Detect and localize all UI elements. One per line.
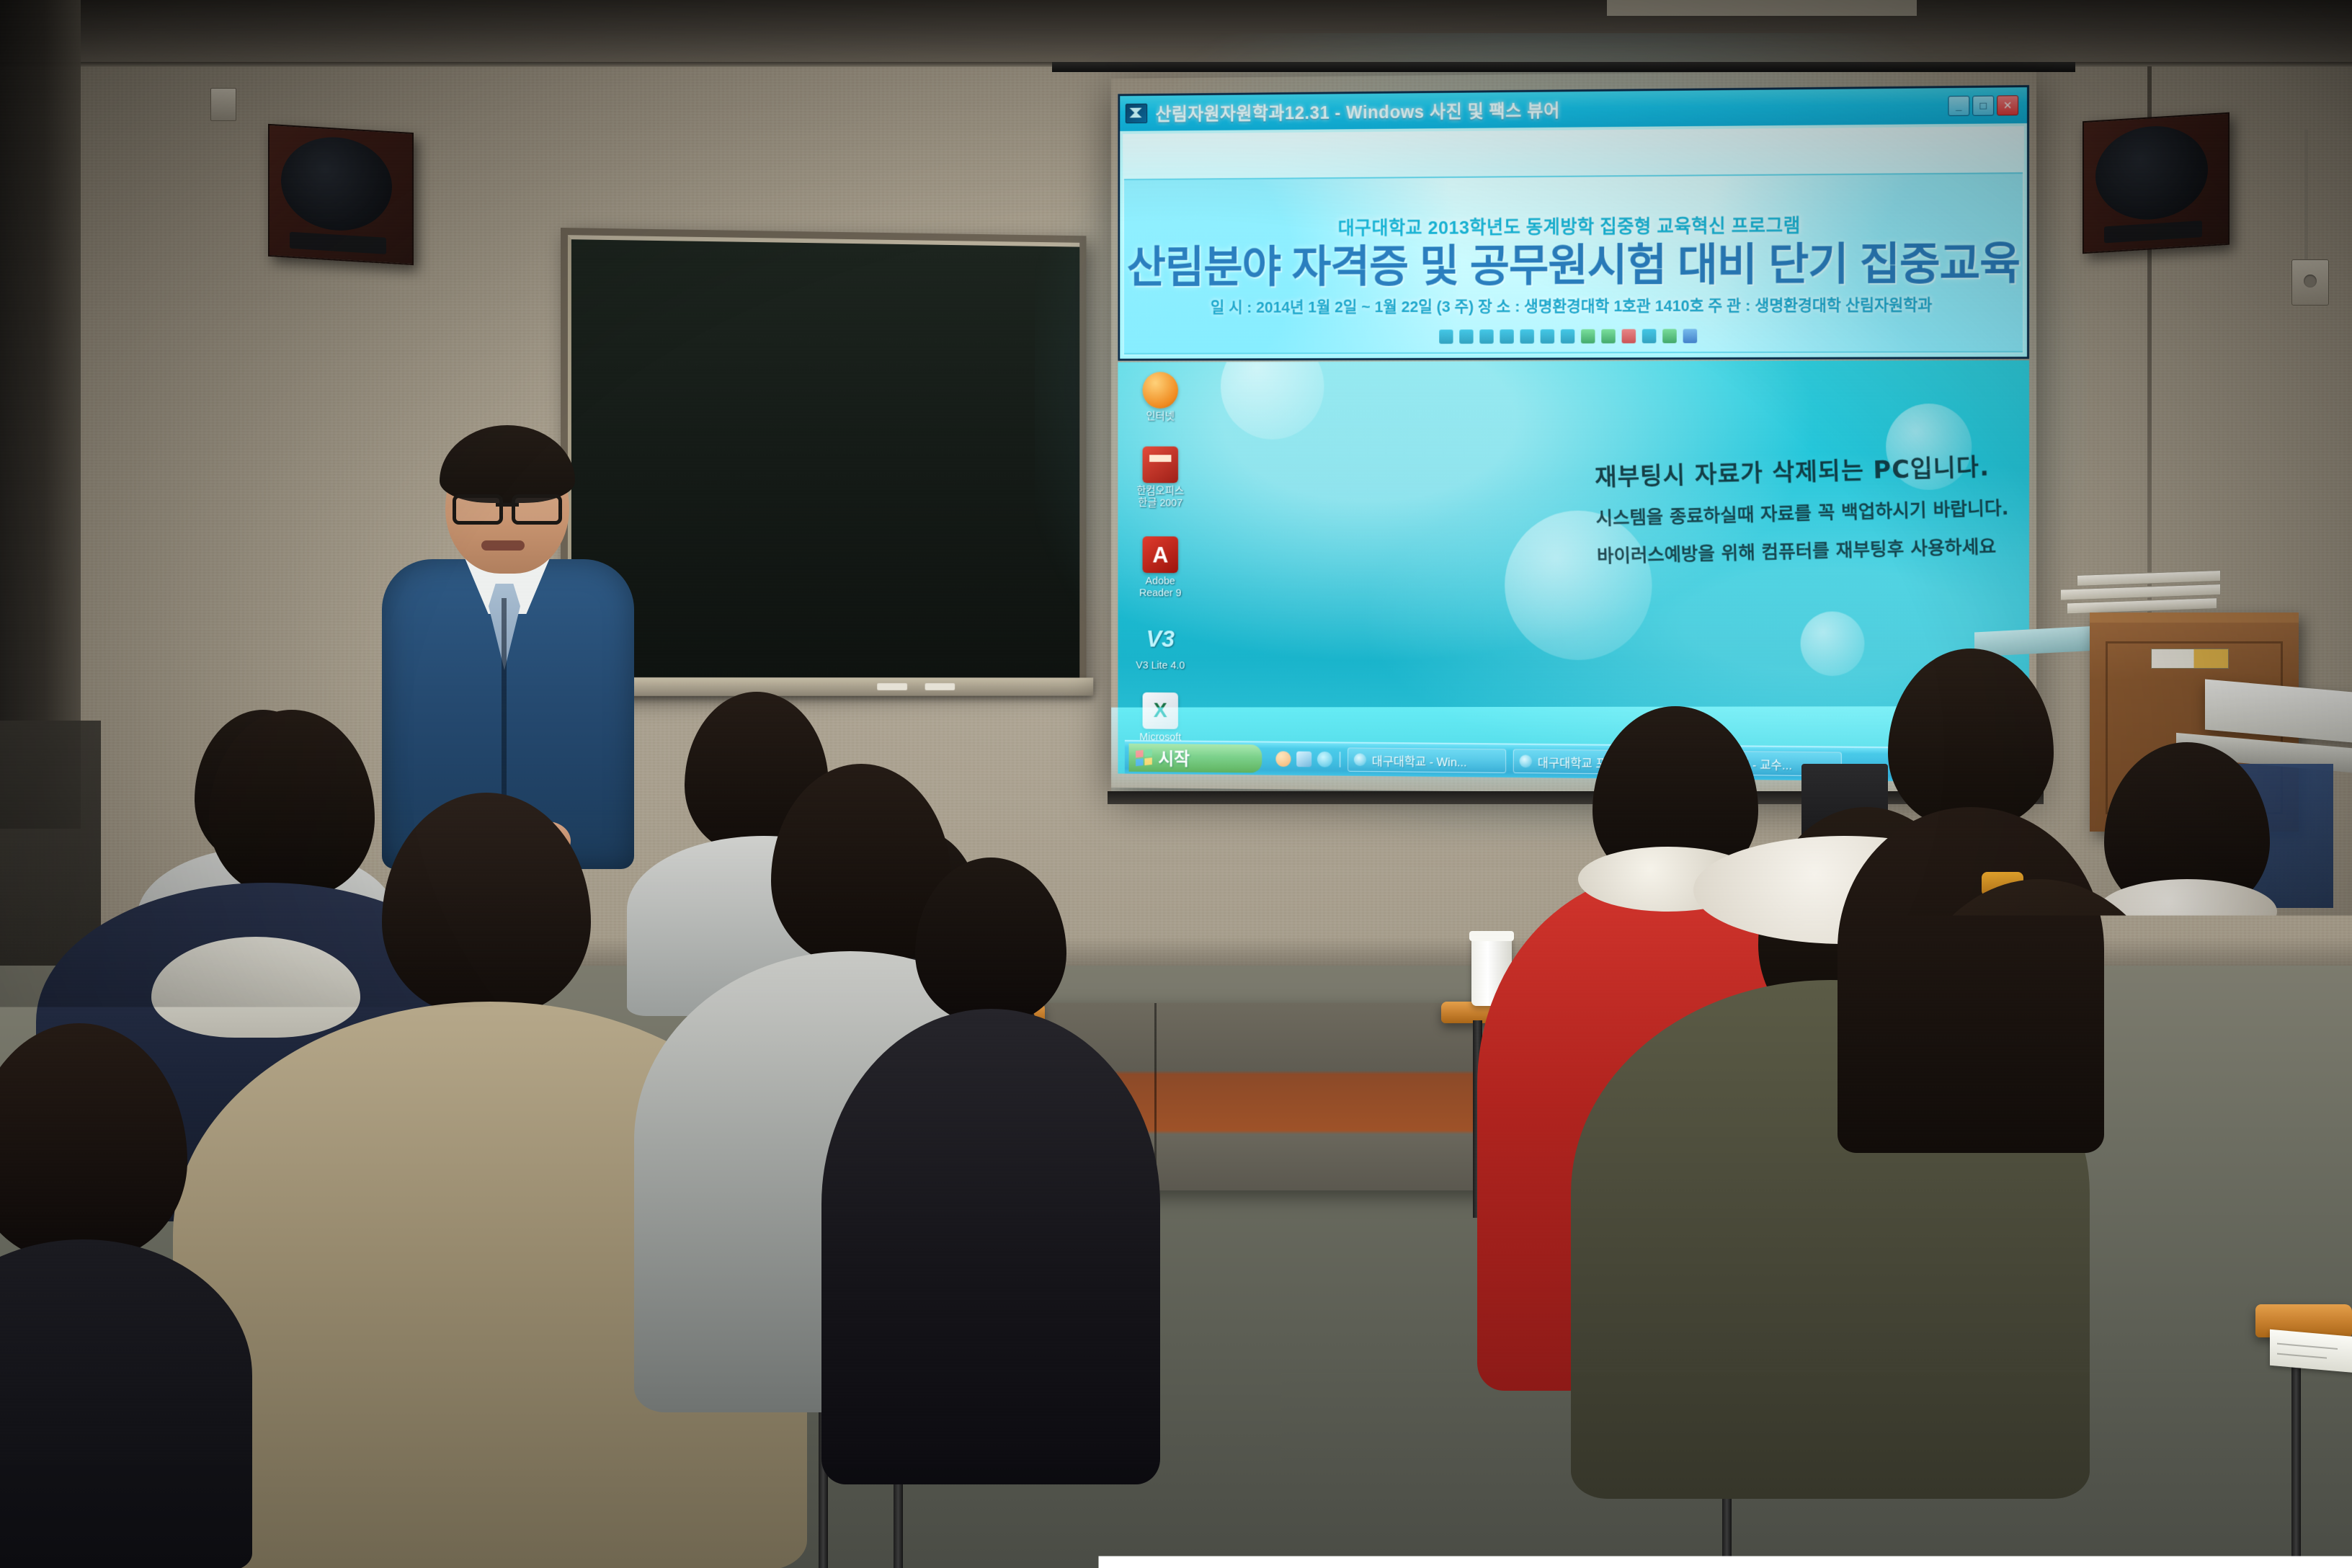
- taskbar-button[interactable]: 대구대학교 - Win...: [1347, 747, 1506, 772]
- desktop-icon-label: 인터넷: [1128, 411, 1193, 423]
- notice-line-2: 시스템을 종료하실때 자료를 꼭 백업하시기 바랍니다.: [1595, 494, 2008, 531]
- desktop-icon-v3[interactable]: V3 Lite 4.0: [1128, 620, 1193, 672]
- photo-viewer-window[interactable]: 산림자원자원학과12.31 - Windows 사진 및 팩스 뷰어 _ □ ✕…: [1118, 85, 2029, 361]
- handwritten-notice: 재부팅시 자료가 삭제되는 PC입니다. 시스템을 종료하실때 자료를 꼭 백업…: [1594, 447, 2009, 569]
- chalk-piece[interactable]: [877, 683, 907, 690]
- wall-speaker-left: [268, 124, 414, 265]
- desktop-icon-label: V3 Lite 4.0: [1128, 660, 1193, 672]
- wall-conduit: [2304, 130, 2308, 264]
- student-black-coat: [836, 857, 1139, 1477]
- quick-launch-bar[interactable]: [1269, 751, 1341, 767]
- speaker-port: [2104, 220, 2202, 244]
- notice-line-3: 바이러스예방을 위해 컴퓨터를 재부팅후 사용하세요: [1597, 532, 2009, 569]
- korean-app-icon: [1143, 447, 1178, 484]
- start-button[interactable]: 시작: [1129, 744, 1262, 773]
- window-controls[interactable]: _ □ ✕: [1948, 95, 2021, 116]
- desktop-icon-adobe[interactable]: Adobe Reader 9: [1128, 536, 1193, 599]
- print-icon[interactable]: [1581, 329, 1595, 344]
- desktop-icon-label: 한컴오피스 한글 2007: [1128, 486, 1193, 509]
- student-head: [915, 857, 1066, 1023]
- ie-icon: [1354, 753, 1366, 766]
- student-coat: [821, 1009, 1160, 1484]
- taskbar-button-label: 대구대학교 - Win...: [1372, 751, 1467, 770]
- banner-info: 일 시 : 2014년 1월 2일 ~ 1월 22일 (3 주) 장 소 : 생…: [1211, 293, 1932, 318]
- internet-browser-icon: [1143, 372, 1178, 409]
- wall-sensor-icon: [210, 88, 236, 121]
- student-7: [1679, 879, 2352, 1568]
- speaker-cone: [2095, 122, 2208, 223]
- show-desktop-icon[interactable]: [1296, 752, 1311, 767]
- next-icon[interactable]: [1459, 329, 1473, 344]
- best-fit-icon[interactable]: [1500, 329, 1513, 344]
- desktop-icon-hangul[interactable]: 한컴오피스 한글 2007: [1128, 447, 1193, 509]
- viewer-toolbar[interactable]: [1123, 322, 2024, 350]
- notice-line-1: 재부팅시 자료가 삭제되는 PC입니다.: [1594, 447, 2007, 493]
- windows-flag-icon: [1136, 749, 1152, 767]
- lectern-label: [2151, 649, 2229, 669]
- left-door-jamb: [0, 0, 81, 829]
- desktop-icon-label: Adobe Reader 9: [1128, 576, 1193, 600]
- chalk-piece[interactable]: [925, 683, 955, 690]
- close-icon[interactable]: ✕: [1997, 95, 2018, 115]
- ceiling-patch: [1607, 0, 1917, 16]
- edit-icon[interactable]: [1662, 329, 1677, 343]
- previous-icon[interactable]: [1439, 329, 1453, 344]
- glasses-icon: [453, 494, 562, 517]
- classroom-photo: 산림자원자원학과12.31 - Windows 사진 및 팩스 뷰어 _ □ ✕…: [0, 0, 2352, 1568]
- v3-antivirus-icon: [1143, 620, 1178, 657]
- light-switch[interactable]: [2291, 259, 2329, 306]
- delete-icon[interactable]: [1622, 329, 1636, 344]
- desktop-icon-internet[interactable]: 인터넷: [1128, 372, 1193, 423]
- viewer-titlebar[interactable]: 산림자원자원학과12.31 - Windows 사진 및 팩스 뷰어 _ □ ✕: [1120, 87, 2027, 131]
- student-coat: [0, 1239, 252, 1568]
- maximize-button[interactable]: □: [1972, 96, 1994, 116]
- instructor-hair: [440, 425, 575, 503]
- ceiling: [0, 0, 2352, 66]
- explorer-icon[interactable]: [1317, 752, 1332, 767]
- banner-title: 산림분야 자격증 및 공무원시험 대비 단기 집중교육: [1127, 241, 2021, 291]
- help-icon[interactable]: [1683, 329, 1698, 343]
- wall-speaker-right: [2082, 112, 2229, 254]
- student-bottom-left: [0, 1023, 231, 1568]
- actual-size-icon[interactable]: [1520, 329, 1533, 344]
- photo-fax-viewer-icon: [1126, 104, 1147, 124]
- zoom-out-icon[interactable]: [1479, 329, 1493, 344]
- speaker-port: [290, 231, 387, 254]
- student-head: [0, 1023, 187, 1261]
- viewer-image-canvas: 대구대학교 2013학년도 동계방학 집중형 교육혁신 프로그램 산림분야 자격…: [1123, 126, 2024, 356]
- student-head: [1895, 879, 2183, 1189]
- copy-icon[interactable]: [1601, 329, 1615, 344]
- viewer-window-title: 산림자원자원학과12.31 - Windows 사진 및 팩스 뷰어: [1156, 93, 1940, 125]
- excel-icon: [1143, 692, 1178, 729]
- banner-subtitle: 대구대학교 2013학년도 동계방학 집중형 교육혁신 프로그램: [1338, 211, 1801, 240]
- start-button-label: 시작: [1158, 745, 1190, 771]
- speaker-cone: [281, 134, 392, 234]
- minimize-button[interactable]: _: [1948, 96, 1969, 116]
- student-head: [1888, 649, 2054, 829]
- rotate-left-icon[interactable]: [1541, 329, 1554, 344]
- instructor-mouth: [481, 540, 525, 551]
- rotate-right-icon[interactable]: [1561, 329, 1574, 344]
- browser-icon[interactable]: [1275, 751, 1291, 767]
- wallpaper-bubble: [1221, 360, 1324, 440]
- student-head: [382, 793, 591, 1016]
- adobe-reader-icon: [1143, 536, 1178, 573]
- save-icon[interactable]: [1642, 329, 1657, 344]
- student-teal-jacket: [1650, 1189, 2352, 1568]
